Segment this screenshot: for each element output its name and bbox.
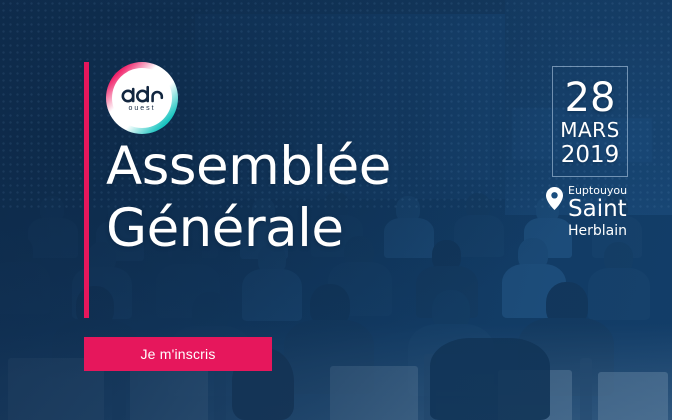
location-text: Euptouyou Saint Herblain xyxy=(568,184,627,240)
page-title: Assemblée Générale xyxy=(106,136,536,260)
logo-inner-circle: ouest xyxy=(112,68,172,128)
location-city-line-2: Herblain xyxy=(568,222,627,240)
right-white-margin xyxy=(672,0,700,420)
accent-bar xyxy=(84,62,89,318)
logo-subtitle: ouest xyxy=(128,105,155,112)
adn-wordmark-icon xyxy=(120,84,164,104)
event-date-box: 28 MARS 2019 xyxy=(552,66,628,177)
adn-ouest-logo[interactable]: ouest xyxy=(106,62,178,134)
title-line-1: Assemblée xyxy=(106,136,536,198)
title-line-2: Générale xyxy=(106,198,536,260)
event-year: 2019 xyxy=(561,142,620,168)
event-banner: ouest Assemblée Générale Je m'inscris 28… xyxy=(0,0,672,420)
event-day: 28 xyxy=(565,78,616,118)
register-button[interactable]: Je m'inscris xyxy=(84,337,272,371)
event-month: MARS xyxy=(560,118,620,142)
banner-content: ouest Assemblée Générale Je m'inscris 28… xyxy=(0,0,672,420)
event-location: Euptouyou Saint Herblain xyxy=(546,184,627,240)
location-city-line-1: Saint xyxy=(568,197,627,222)
map-pin-icon xyxy=(546,187,563,210)
